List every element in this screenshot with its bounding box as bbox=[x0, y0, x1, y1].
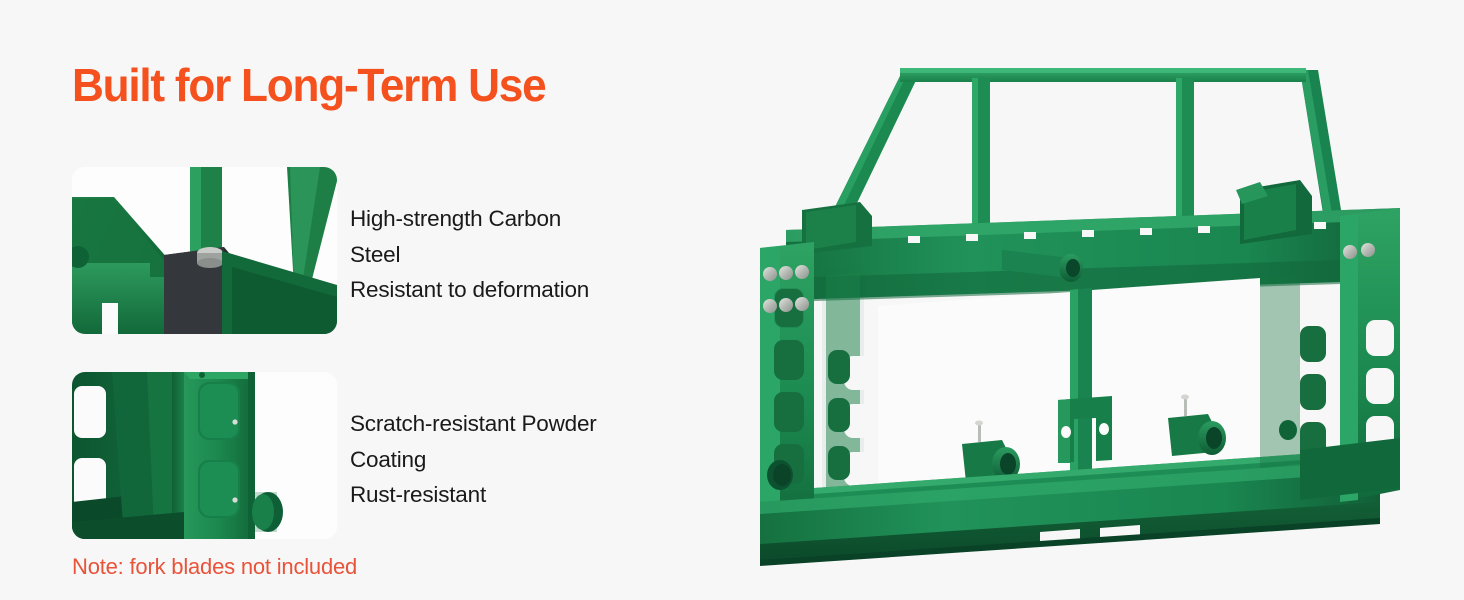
feature-row-carbon-steel: High-strength Carbon Steel Resistant to … bbox=[72, 167, 589, 334]
feature-line-2: Coating bbox=[350, 442, 597, 478]
disclaimer-note: Note: fork blades not included bbox=[72, 554, 357, 580]
feature-line-1: High-strength Carbon bbox=[350, 201, 589, 237]
feature-line-2: Steel bbox=[350, 237, 589, 273]
left-content-column: Built for Long-Term Use bbox=[72, 62, 692, 582]
page-title: Built for Long-Term Use bbox=[72, 62, 667, 108]
product-image bbox=[740, 20, 1440, 580]
feature-text-powder-coating: Scratch-resistant Powder Coating Rust-re… bbox=[350, 372, 597, 513]
feature-line-1: Scratch-resistant Powder bbox=[350, 406, 597, 442]
feature-text-carbon-steel: High-strength Carbon Steel Resistant to … bbox=[350, 167, 589, 308]
carbon-steel-closeup-image bbox=[72, 167, 337, 334]
promo-banner: Built for Long-Term Use bbox=[0, 0, 1464, 600]
feature-line-3: Resistant to deformation bbox=[350, 272, 589, 308]
powder-coating-closeup-image bbox=[72, 372, 337, 539]
feature-line-3: Rust-resistant bbox=[350, 477, 597, 513]
feature-row-powder-coating: Scratch-resistant Powder Coating Rust-re… bbox=[72, 372, 597, 539]
